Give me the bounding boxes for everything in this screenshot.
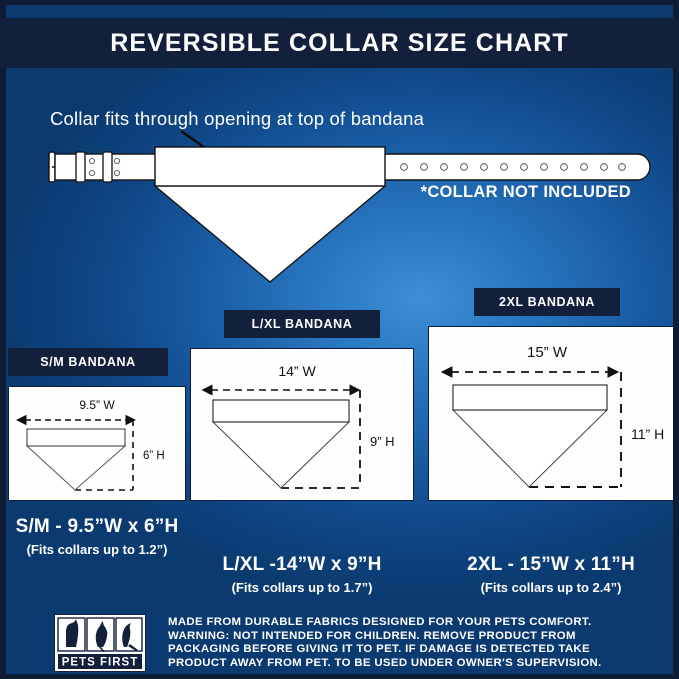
width-label-2xl: 15” W	[527, 344, 568, 361]
size-subcaption-lxl: (Fits collars up to 1.7”)	[190, 580, 414, 595]
bandana-icon	[155, 147, 385, 282]
size-tag-lxl: L/XL BANDANA	[224, 310, 380, 338]
frame-border-top	[0, 0, 679, 5]
size-column-sm: S/M BANDANA 9.5” W 6” H	[8, 348, 188, 557]
size-column-lxl: L/XL BANDANA 14” W 9” H L/XL -14”W x 9”H…	[190, 310, 414, 595]
size-diagram-card-lxl: 14” W 9” H	[190, 348, 414, 501]
size-diagram-card-sm: 9.5” W 6” H	[8, 386, 186, 501]
height-label-sm: 6” H	[143, 450, 165, 462]
size-caption-2xl: 2XL - 15”W x 11”H	[428, 554, 674, 576]
bandana-dimension-diagram-sm: 9.5” W 6” H	[9, 387, 185, 500]
frame-border-left	[0, 0, 6, 679]
size-tag-2xl: 2XL BANDANA	[474, 288, 620, 316]
collar-and-bandana-illustration	[0, 130, 679, 290]
size-diagram-card-2xl: 15” W 11” H	[428, 326, 674, 501]
page-title: REVERSIBLE COLLAR SIZE CHART	[110, 29, 569, 58]
footer-line-2: WARNING: NOT INTENDED FOR CHILDREN. REMO…	[168, 630, 602, 644]
collar-not-included-note: *COLLAR NOT INCLUDED	[421, 183, 631, 202]
size-subcaption-sm: (Fits collars up to 1.2”)	[8, 542, 186, 557]
size-caption-sm: S/M - 9.5”W x 6”H	[8, 516, 186, 538]
width-label-sm: 9.5” W	[79, 398, 115, 412]
size-chart-page: REVERSIBLE COLLAR SIZE CHART Collar fits…	[0, 0, 679, 679]
bandana-dimension-diagram-lxl: 14” W 9” H	[191, 349, 413, 500]
hero-caption: Collar fits through opening at top of ba…	[50, 108, 424, 130]
size-column-2xl: 2XL BANDANA 15” W 11” H 2XL - 15”W x 11”…	[428, 288, 674, 595]
size-caption-lxl: L/XL -14”W x 9”H	[190, 554, 414, 576]
height-label-lxl: 9” H	[370, 434, 395, 449]
bandana-dimension-diagram-2xl: 15” W 11” H	[429, 327, 673, 500]
height-label-2xl: 11” H	[631, 426, 664, 442]
size-subcaption-2xl: (Fits collars up to 2.4”)	[428, 580, 674, 595]
footer-line-3: PACKAGING BEFORE GIVING IT TO PET. IF DA…	[168, 643, 602, 657]
footer-disclaimer: MADE FROM DURABLE FABRICS DESIGNED FOR Y…	[168, 616, 602, 670]
footer-line-4: PRODUCT AWAY FROM PET. TO BE USED UNDER …	[168, 657, 602, 671]
frame-border-bottom	[0, 674, 679, 679]
pets-first-logo-icon: PETS FIRST	[54, 614, 146, 672]
header-band: REVERSIBLE COLLAR SIZE CHART	[0, 18, 679, 68]
width-label-lxl: 14” W	[278, 363, 316, 379]
size-tag-sm: S/M BANDANA	[8, 348, 168, 376]
footer-line-1: MADE FROM DURABLE FABRICS DESIGNED FOR Y…	[168, 616, 602, 630]
brand-name: PETS FIRST	[62, 657, 138, 669]
